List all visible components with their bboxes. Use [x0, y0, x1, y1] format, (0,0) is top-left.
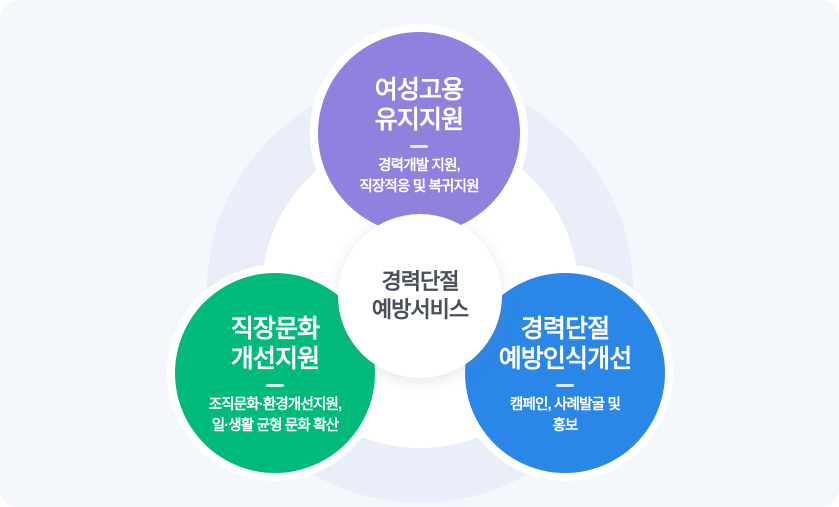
- divider-rule-icon: [410, 145, 428, 148]
- divider-rule-icon: [556, 384, 574, 387]
- lobe-title: 여성고용 유지지원: [375, 75, 463, 136]
- center-hub[interactable]: 경력단절 예방서비스: [342, 218, 498, 374]
- divider-rule-icon: [266, 384, 284, 387]
- lobe-women-employment-retention[interactable]: 여성고용 유지지원 경력개발 지원, 직장적응 및 복귀지원: [318, 32, 520, 234]
- lobe-title: 직장문화 개선지원: [231, 314, 319, 375]
- lobe-description: 조직문화·환경개선지원, 일·생활 균형 문화 확산: [209, 395, 342, 436]
- lobe-description: 경력개발 지원, 직장적응 및 복귀지원: [359, 156, 478, 197]
- lobe-description: 캠페인, 사례발굴 및 홍보: [510, 395, 620, 436]
- lobe-title: 경력단절 예방인식개선: [499, 314, 632, 375]
- center-hub-title: 경력단절 예방서비스: [372, 268, 468, 324]
- infographic-stage: 여성고용 유지지원 경력개발 지원, 직장적응 및 복귀지원 직장문화 개선지원…: [0, 0, 839, 507]
